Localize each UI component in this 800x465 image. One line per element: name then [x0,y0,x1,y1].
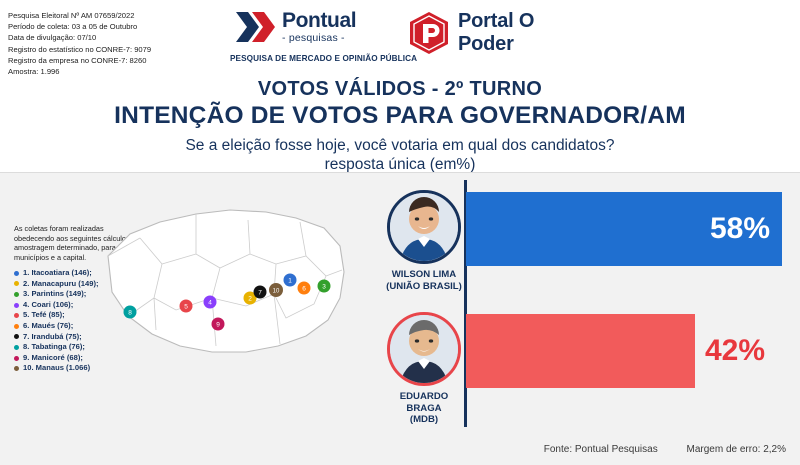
legend-dot-icon [14,292,19,297]
svg-text:3: 3 [322,284,326,291]
legend-label: 6. Maués (76); [23,321,73,332]
pontual-subtitle: - pesquisas - [282,32,356,44]
avatar [387,312,461,386]
svg-text:5: 5 [184,304,188,311]
svg-text:2: 2 [248,296,252,303]
legend-label: 3. Parintins (149); [23,289,86,300]
legend-label: 1. Itacoatiara (146); [23,268,92,279]
pontual-logo: Pontual - pesquisas - PESQUISA DE MERCAD… [232,8,356,46]
question-text: Se a eleição fosse hoje, você votaria em… [0,136,800,174]
header: Pesquisa Eleitoral Nº AM 07659/2022 Perí… [0,0,800,172]
poder-name: Portal O Poder [458,10,572,56]
poder-mark-icon [408,11,450,55]
legend-label: 7. Irandubá (75); [23,332,82,343]
svg-text:10: 10 [273,289,280,295]
pontual-mark-icon [232,8,276,46]
footer-margin-of-error: Margem de erro: 2,2% [687,444,787,455]
candidate-wilson-lima: WILSON LIMA (UNIÃO BRASIL) [384,190,464,292]
svg-text:6: 6 [302,286,306,293]
svg-text:7: 7 [258,290,262,297]
meta-line-company-registry: Registro da empresa no CONRE-7: 8260 [8,55,151,66]
svg-text:1: 1 [288,278,292,285]
candidate-party: (MDB) [384,414,464,426]
svg-text:9: 9 [216,322,220,329]
bar-eduardo-braga: 42% [466,314,695,388]
legend-dot-icon [14,356,19,361]
bar-value-label: 42% [705,336,765,366]
bar-wilson-lima: 58% [466,192,782,266]
chart-row-eduardo-braga: EDUARDO BRAGA (MDB) 42% [360,312,792,422]
poder-logo: Portal O Poder [408,10,572,56]
candidate-eduardo-braga: EDUARDO BRAGA (MDB) [384,312,464,426]
amazonas-map: 8 5 4 9 2 7 10 1 6 3 [100,194,350,379]
poll-infographic: Pesquisa Eleitoral Nº AM 07659/2022 Perí… [0,0,800,465]
footer: Fonte: Pontual Pesquisas Margem de erro:… [518,444,786,455]
legend-dot-icon [14,334,19,339]
legend-dot-icon [14,366,19,371]
svg-text:8: 8 [128,310,132,317]
meta-line-registration: Pesquisa Eleitoral Nº AM 07659/2022 [8,10,151,21]
legend-label: 4. Coari (106); [23,300,73,311]
chart-row-wilson-lima: WILSON LIMA (UNIÃO BRASIL) 58% [360,190,792,300]
header-divider [0,172,800,173]
pontual-name: Pontual [282,10,356,32]
question-line-1: Se a eleição fosse hoje, você votaria em… [0,136,800,155]
legend-label: 8. Tabatinga (76); [23,342,85,353]
legend-dot-icon [14,281,19,286]
legend-dot-icon [14,313,19,318]
bar-value-label: 58% [710,214,770,244]
legend-dot-icon [14,271,19,276]
body: As coletas foram realizadas obedecendo a… [0,172,800,465]
candidate-name: WILSON LIMA [384,269,464,281]
meta-line-collection-period: Período de coleta: 03 a 05 de Outubro [8,21,151,32]
votes-bar-chart: WILSON LIMA (UNIÃO BRASIL) 58% [360,180,792,438]
meta-line-release-date: Data de divulgação: 07/10 [8,32,151,43]
logos: Pontual - pesquisas - PESQUISA DE MERCAD… [232,8,572,70]
legend-label: 2. Manacapuru (149); [23,279,99,290]
meta-line-statistician-registry: Registro do estatístico no CONRE-7: 9079 [8,44,151,55]
legend-dot-icon [14,345,19,350]
legend-dot-icon [14,303,19,308]
legend-label: 9. Manicoré (68); [23,353,83,364]
page-title: INTENÇÃO DE VOTOS PARA GOVERNADOR/AM [0,102,800,130]
candidate-name: EDUARDO BRAGA [384,391,464,414]
meta-line-sample: Amostra: 1.996 [8,66,151,77]
avatar [387,190,461,264]
pontual-tagline: PESQUISA DE MERCADO E OPINIÃO PÚBLICA [230,54,417,63]
footer-source: Fonte: Pontual Pesquisas [544,444,658,455]
legend-dot-icon [14,324,19,329]
candidate-party: (UNIÃO BRASIL) [384,281,464,293]
title-votes-valid: VOTOS VÁLIDOS - 2º TURNO [0,78,800,101]
legend-label: 10. Manaus (1.066) [23,363,90,374]
survey-metadata: Pesquisa Eleitoral Nº AM 07659/2022 Perí… [8,10,151,77]
svg-text:4: 4 [208,300,212,307]
legend-label: 5. Tefé (85); [23,310,65,321]
